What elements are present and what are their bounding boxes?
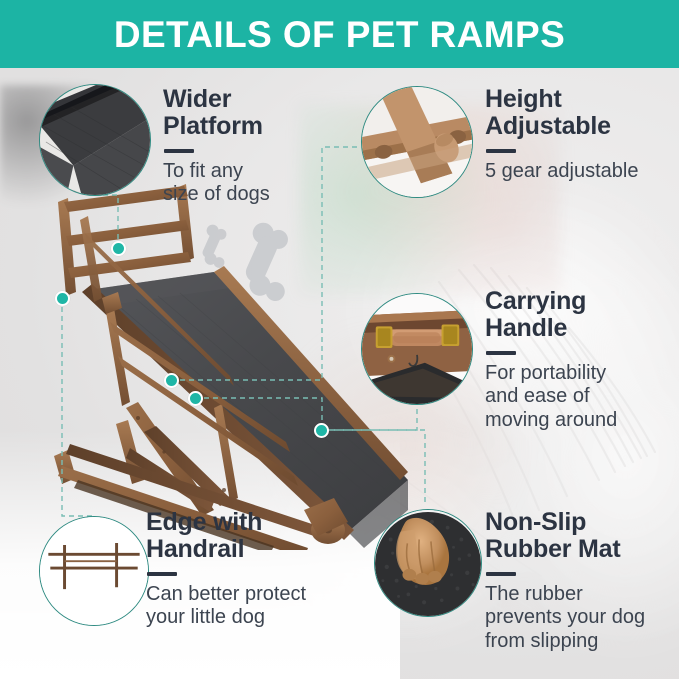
feature-body: The rubber prevents your dog from slippi… <box>485 583 679 654</box>
callout-height-adjustable: Height Adjustable 5 gear adjustable <box>485 86 675 183</box>
title-divider <box>486 572 516 576</box>
marker-wider-platform <box>111 241 126 256</box>
title-divider <box>486 351 516 355</box>
feature-title: Carrying Handle <box>485 288 675 342</box>
ramp-platform-closeup-icon <box>40 85 150 195</box>
bone-icon-small <box>196 222 241 272</box>
feature-body: To fit any size of dogs <box>163 160 348 208</box>
marker-carrying-handle <box>188 391 203 406</box>
header-banner: DETAILS OF PET RAMPS <box>0 0 679 68</box>
inset-edge-handrail <box>39 516 149 626</box>
feature-title: Wider Platform <box>163 86 348 140</box>
callout-edge-handrail: Edge with Handrail Can better protect yo… <box>146 509 351 630</box>
title-divider <box>486 149 516 153</box>
feature-title: Edge with Handrail <box>146 509 351 563</box>
callout-non-slip-mat: Non-Slip Rubber Mat The rubber prevents … <box>485 509 679 654</box>
paw-on-rubber-mat-icon <box>375 510 481 616</box>
marker-height-adjustable <box>164 373 179 388</box>
feature-title: Non-Slip Rubber Mat <box>485 509 679 563</box>
handrail-line-drawing-icon <box>40 517 148 625</box>
carrying-handle-closeup-icon <box>362 294 472 404</box>
page-title: DETAILS OF PET RAMPS <box>114 16 565 53</box>
inset-carrying-handle <box>361 293 473 405</box>
inset-non-slip-mat <box>374 509 482 617</box>
height-gear-closeup-icon <box>362 87 472 197</box>
title-divider <box>147 572 177 576</box>
feature-body: Can better protect your little dog <box>146 583 351 631</box>
infographic-page: DETAILS OF PET RAMPS <box>0 0 679 679</box>
bone-icon-large <box>223 222 314 309</box>
marker-edge-handrail <box>55 291 70 306</box>
feature-body: For portability and ease of moving aroun… <box>485 362 675 433</box>
feature-body: 5 gear adjustable <box>485 160 675 184</box>
bone-decoration-group <box>196 222 314 310</box>
inset-wider-platform <box>39 84 151 196</box>
callout-wider-platform: Wider Platform To fit any size of dogs <box>163 86 348 207</box>
marker-non-slip-mat <box>314 423 329 438</box>
title-divider <box>164 149 194 153</box>
callout-carrying-handle: Carrying Handle For portability and ease… <box>485 288 675 433</box>
inset-height-adjustable <box>361 86 473 198</box>
feature-title: Height Adjustable <box>485 86 675 140</box>
